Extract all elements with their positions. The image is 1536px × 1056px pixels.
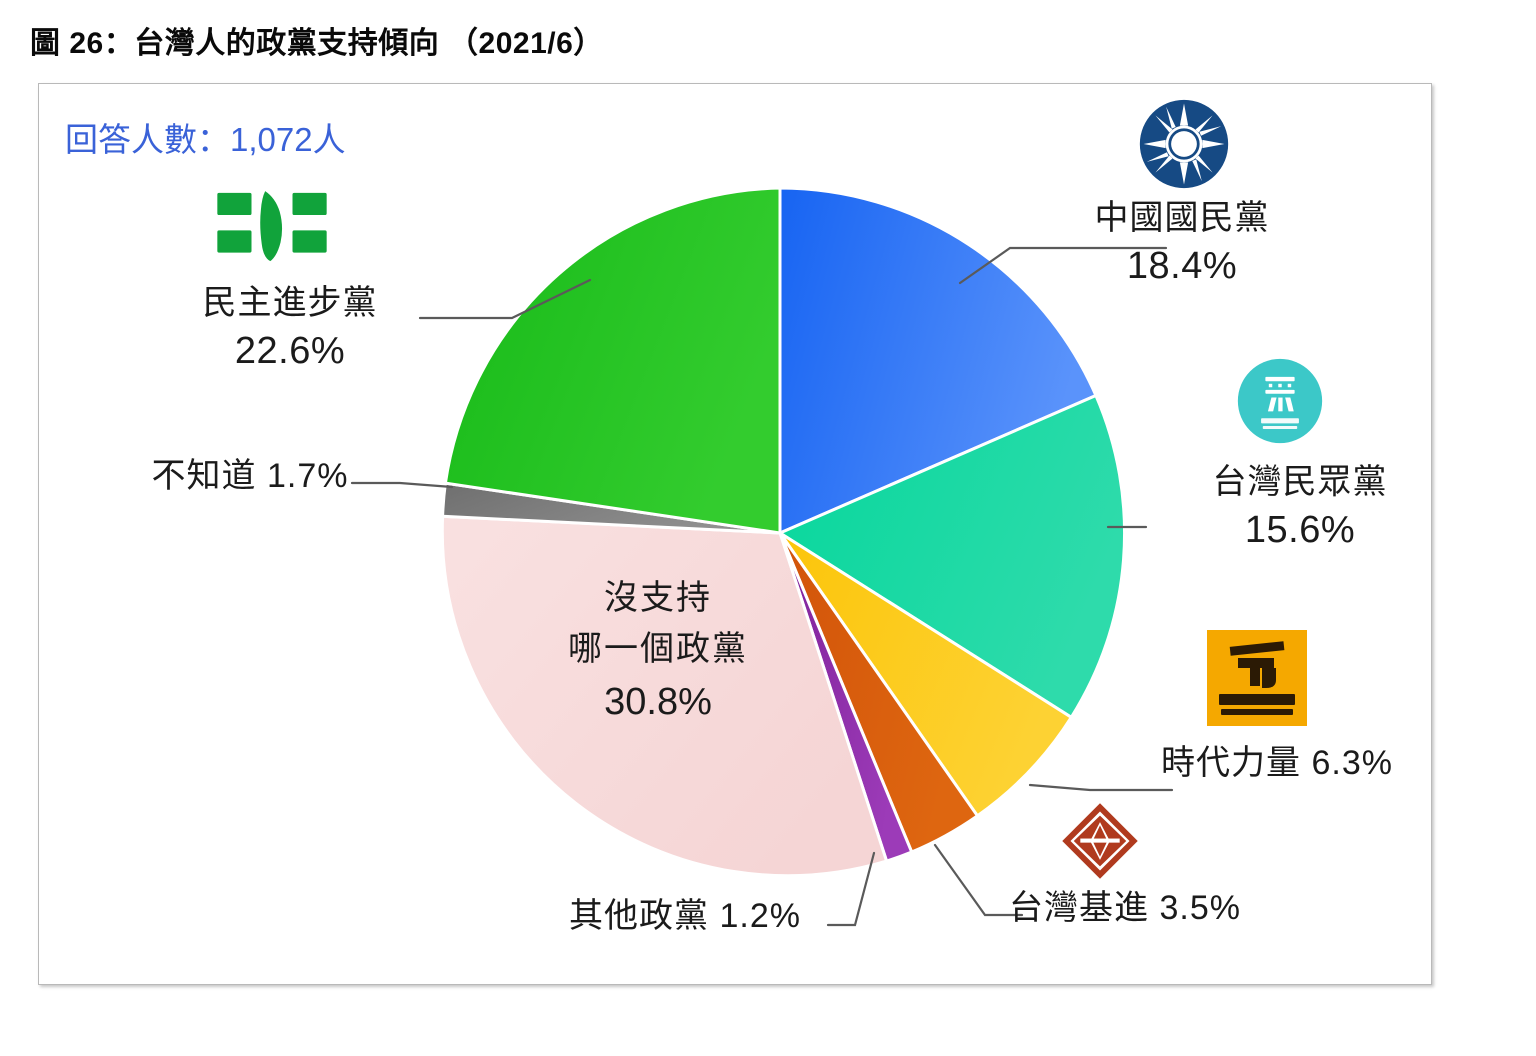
respondent-count-label: 回答人數：1,072人 [65, 113, 346, 161]
npp-logo [1202, 628, 1312, 728]
page-title: 圖 26：台灣人的政黨支持傾向 （2021/6） [30, 18, 604, 62]
label-nosupport-line2: 哪一個政黨 [513, 624, 803, 675]
label-npp-text: 時代力量 6.3% [1112, 735, 1442, 784]
label-tpp: 台灣民眾黨 15.6% [1140, 462, 1460, 559]
label-nosupport-pct: 30.8% [513, 675, 803, 730]
label-dpp-pct: 22.6% [125, 323, 455, 380]
label-tsp: 台灣基進 3.5% [955, 880, 1295, 929]
label-dpp: 民主進步黨 22.6% [125, 283, 455, 380]
dpp-taiwan-logo [212, 186, 332, 268]
label-unknown: 不知道 1.7% [105, 448, 395, 497]
label-nosupport: 沒支持 哪一個政黨 30.8% [513, 573, 803, 730]
label-kmt: 中國國民黨 18.4% [1012, 198, 1352, 295]
label-kmt-pct: 18.4% [1012, 238, 1352, 295]
label-npp: 時代力量 6.3% [1112, 735, 1442, 784]
label-unknown-text: 不知道 1.7% [105, 448, 395, 497]
label-tsp-text: 台灣基進 3.5% [955, 880, 1295, 929]
label-tpp-name: 台灣民眾黨 [1140, 462, 1460, 502]
label-other-party: 其他政黨 1.2% [525, 888, 845, 937]
label-nosupport-line1: 沒支持 [513, 573, 803, 624]
label-kmt-name: 中國國民黨 [1012, 198, 1352, 238]
kmt-sun-logo [1138, 98, 1230, 190]
label-tpp-pct: 15.6% [1140, 502, 1460, 559]
label-dpp-name: 民主進步黨 [125, 283, 455, 323]
tpp-zhong-logo [1237, 358, 1323, 444]
tsp-diamond-logo [1055, 800, 1145, 882]
label-other-party-text: 其他政黨 1.2% [525, 888, 845, 937]
